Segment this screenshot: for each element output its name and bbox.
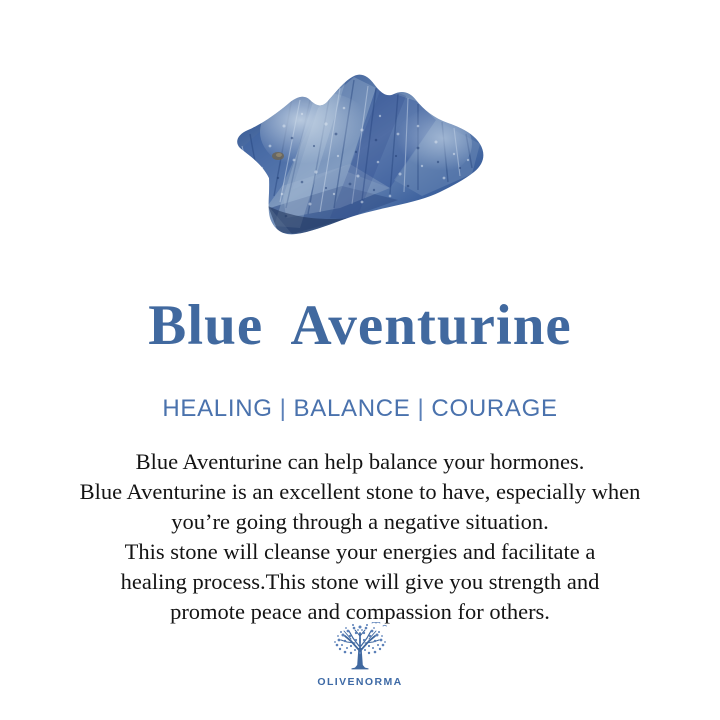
stone-image-container bbox=[0, 68, 720, 248]
description-line: This stone will cleanse your energies an… bbox=[14, 537, 706, 567]
brand-logo: OLIVENORMA bbox=[0, 622, 720, 688]
description-text: Blue Aventurine can help balance your ho… bbox=[14, 447, 706, 627]
keyword-balance: BALANCE bbox=[294, 395, 411, 422]
keyword-separator: | bbox=[410, 395, 431, 422]
description-line: you’re going through a negative situatio… bbox=[14, 507, 706, 537]
keyword-separator: | bbox=[273, 395, 294, 422]
tree-of-life-icon bbox=[329, 622, 391, 674]
page-title: Blue Aventurine bbox=[0, 296, 720, 356]
description-line: healing process.This stone will give you… bbox=[14, 567, 706, 597]
keyword-courage: COURAGE bbox=[431, 395, 557, 422]
keyword-list: HEALING|BALANCE|COURAGE bbox=[0, 396, 720, 422]
description-line: Blue Aventurine can help balance your ho… bbox=[14, 447, 706, 477]
product-info-card: Blue Aventurine HEALING|BALANCE|COURAGE … bbox=[0, 0, 720, 720]
description-line: Blue Aventurine is an excellent stone to… bbox=[14, 477, 706, 507]
keyword-healing: HEALING bbox=[162, 395, 272, 422]
blue-aventurine-stone-image bbox=[222, 68, 498, 248]
brand-wordmark: OLIVENORMA bbox=[0, 676, 720, 688]
